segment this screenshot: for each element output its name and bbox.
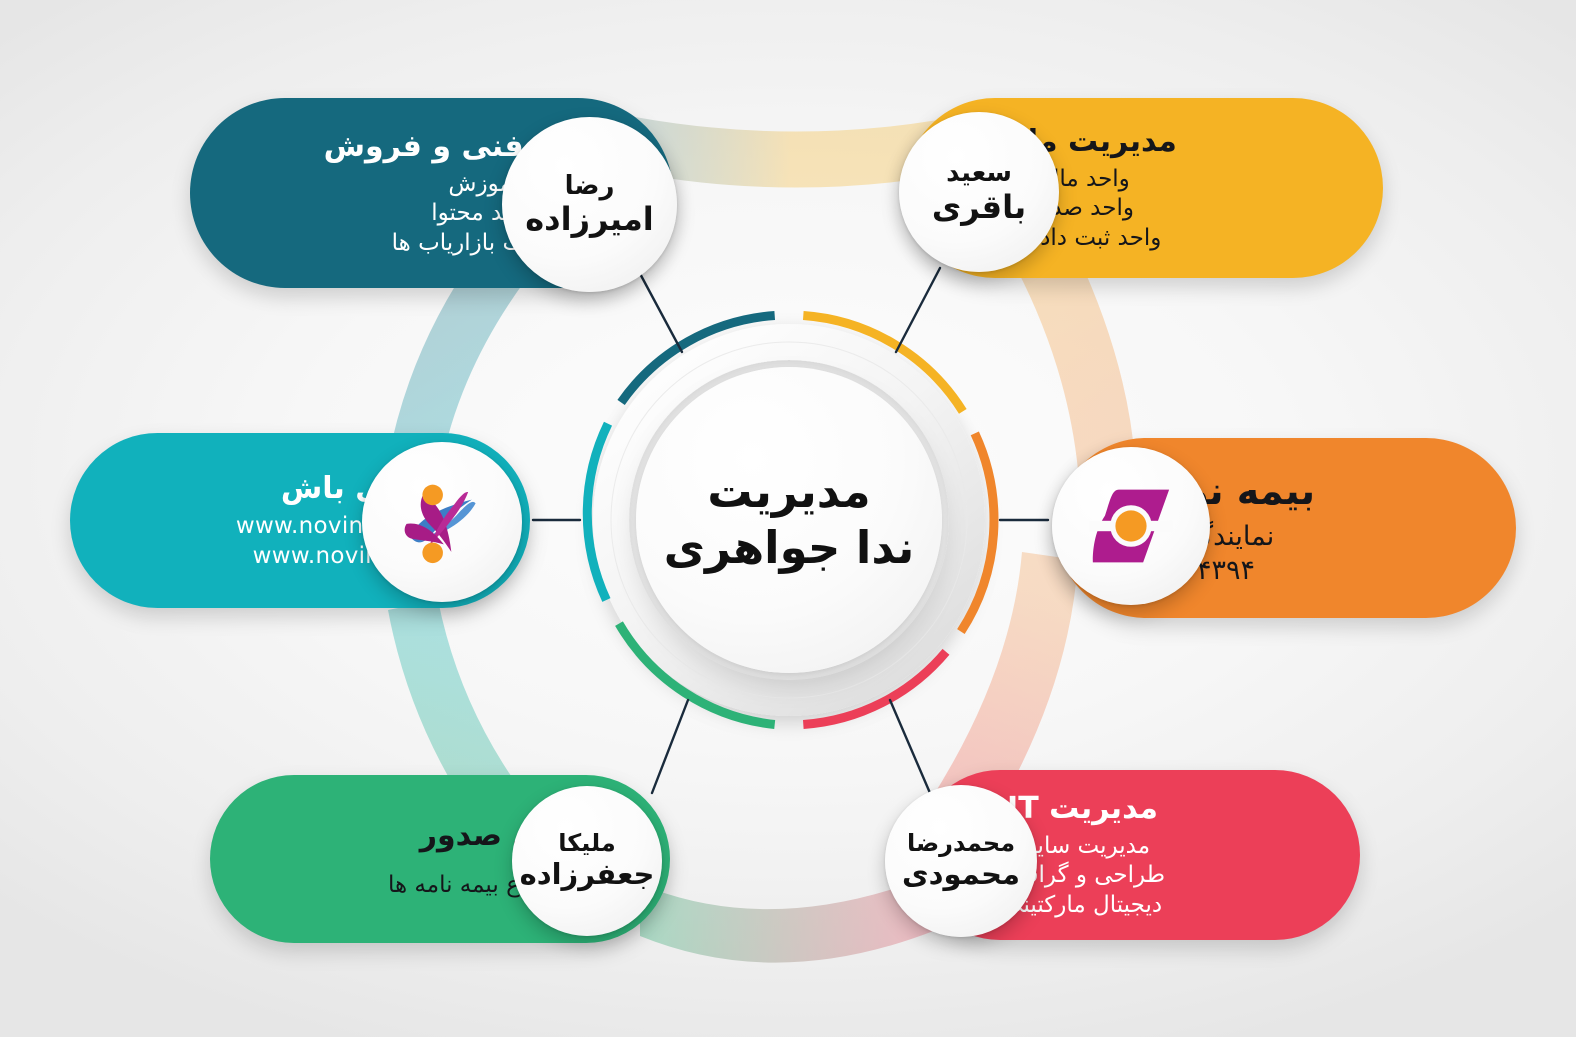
canvas-edge-bottom <box>0 1037 1586 1043</box>
avatar-financial-firstname: سعید <box>946 158 1012 188</box>
avatar-it-management-firstname: محمدرضا <box>907 830 1015 858</box>
avatar-saeed-bagheri[interactable]: سعید باقری <box>899 112 1059 272</box>
logo-badge-novinibash[interactable] <box>362 442 522 602</box>
center-hub: مدیریت ندا جواهری <box>636 367 942 673</box>
infographic-canvas: مدیریت ندا جواهری مدیریت فنی و فروش آموز… <box>0 0 1586 1043</box>
avatar-technical-sales-lastname: امیرزاده <box>525 201 653 238</box>
avatar-technical-sales-firstname: رضا <box>565 171 615 201</box>
avatar-issuance-unit-lastname: جعفرزاده <box>520 858 655 892</box>
avatar-financial-lastname: باقری <box>932 189 1026 226</box>
bimeh-novin-logo <box>1079 474 1183 578</box>
logo-badge-bimeh-novin[interactable] <box>1052 447 1210 605</box>
avatar-reza-amirzadeh[interactable]: رضا امیرزاده <box>502 117 677 292</box>
avatar-melika-jafarzadeh[interactable]: ملیکا جعفرزاده <box>512 786 662 936</box>
novinibash-logo <box>386 466 498 578</box>
avatar-it-management-lastname: محمودی <box>902 858 1020 892</box>
avatar-mohammadreza-mahmoudi[interactable]: محمدرضا محمودی <box>885 785 1037 937</box>
avatar-issuance-unit-firstname: ملیکا <box>558 830 615 858</box>
canvas-edge-right <box>1576 0 1586 1043</box>
center-title-line2: ندا جواهری <box>664 523 915 573</box>
center-title-line1: مدیریت <box>707 467 870 517</box>
